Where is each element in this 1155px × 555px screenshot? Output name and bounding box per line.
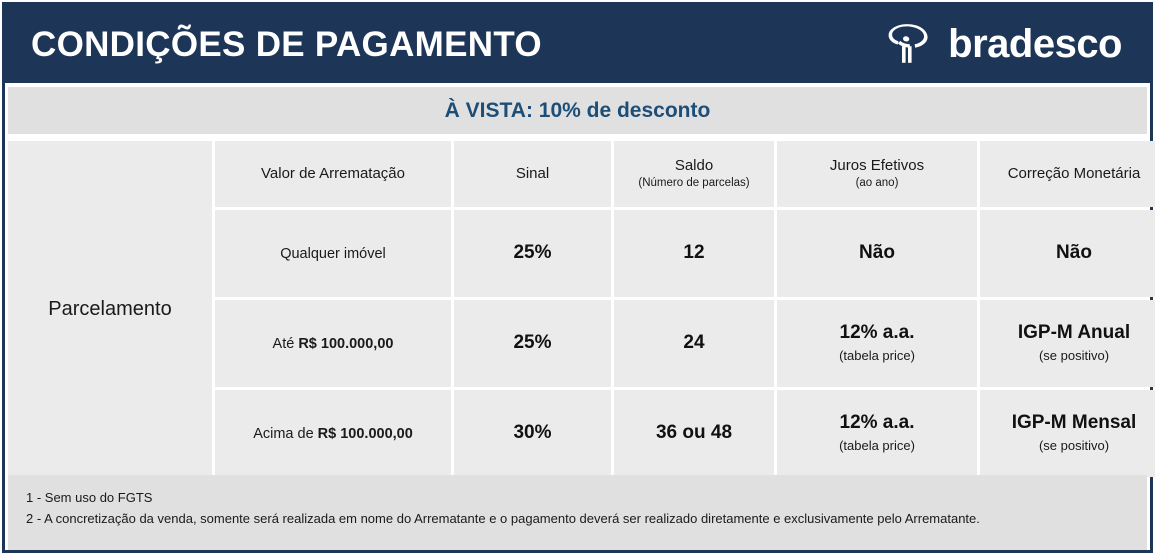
- table-header-row: Parcelamento Valor de Arrematação Sinal …: [8, 141, 1155, 207]
- discount-lead: À VISTA:: [445, 99, 533, 122]
- cell-correcao-note: (se positivo): [986, 347, 1155, 365]
- discount-rest: 10% de desconto: [533, 99, 710, 122]
- bradesco-tree-logo-icon: [885, 19, 939, 69]
- footnotes: 1 - Sem uso do FGTS 2 - A concretização …: [8, 475, 1147, 550]
- row-group-label-parcelamento: Parcelamento: [8, 141, 212, 477]
- column-header-juros-sublabel: (ao ano): [783, 176, 971, 190]
- cell-valor-amount: R$ 100.000,00: [318, 426, 413, 442]
- column-header-correcao-label: Correção Monetária: [1008, 165, 1141, 182]
- cell-valor: Acima de R$ 100.000,00: [215, 390, 451, 477]
- discount-banner: À VISTA: 10% de desconto: [8, 87, 1147, 134]
- column-header-sinal: Sinal: [454, 141, 611, 207]
- brand-name: bradesco: [948, 24, 1122, 64]
- page-title: CONDIÇÕES DE PAGAMENTO: [31, 27, 542, 62]
- cell-valor-prefix: Qualquer imóvel: [280, 246, 386, 262]
- cell-saldo: 24: [614, 300, 774, 387]
- header-bar: CONDIÇÕES DE PAGAMENTO bradesco: [5, 5, 1150, 83]
- cell-sinal: 25%: [454, 300, 611, 387]
- cell-juros-value: 12% a.a.: [840, 322, 915, 343]
- cell-saldo: 36 ou 48: [614, 390, 774, 477]
- column-header-juros: Juros Efetivos (ao ano): [777, 141, 977, 207]
- conditions-table: Parcelamento Valor de Arrematação Sinal …: [5, 138, 1150, 472]
- brand-logo: bradesco: [885, 19, 1128, 69]
- cell-correcao-value: IGP-M Mensal: [1012, 412, 1137, 433]
- column-header-saldo: Saldo (Número de parcelas): [614, 141, 774, 207]
- column-header-saldo-sublabel: (Número de parcelas): [620, 176, 768, 190]
- cell-valor: Qualquer imóvel: [215, 210, 451, 297]
- column-header-saldo-label: Saldo: [675, 157, 713, 174]
- card-frame: CONDIÇÕES DE PAGAMENTO bradesco À VISTA:…: [2, 2, 1153, 553]
- column-header-juros-label: Juros Efetivos: [830, 157, 924, 174]
- column-header-valor: Valor de Arrematação: [215, 141, 451, 207]
- cell-juros: 12% a.a. (tabela price): [777, 300, 977, 387]
- cell-juros-value: 12% a.a.: [840, 412, 915, 433]
- column-header-correcao: Correção Monetária: [980, 141, 1155, 207]
- column-header-sinal-label: Sinal: [516, 165, 549, 182]
- cell-juros: 12% a.a. (tabela price): [777, 390, 977, 477]
- footnote-1: 1 - Sem uso do FGTS: [26, 487, 1147, 508]
- cell-correcao: IGP-M Anual (se positivo): [980, 300, 1155, 387]
- cell-valor-prefix: Até: [273, 336, 299, 352]
- cell-juros-note: (tabela price): [783, 347, 971, 365]
- column-header-valor-label: Valor de Arrematação: [261, 165, 405, 182]
- cell-valor: Até R$ 100.000,00: [215, 300, 451, 387]
- cell-valor-prefix: Acima de: [253, 426, 317, 442]
- cell-sinal: 30%: [454, 390, 611, 477]
- cell-correcao: IGP-M Mensal (se positivo): [980, 390, 1155, 477]
- cell-juros-value: Não: [859, 242, 895, 263]
- cell-valor-amount: R$ 100.000,00: [298, 336, 393, 352]
- payment-conditions-card: CONDIÇÕES DE PAGAMENTO bradesco À VISTA:…: [0, 0, 1155, 555]
- cell-correcao-value: IGP-M Anual: [1018, 322, 1130, 343]
- cell-correcao: Não: [980, 210, 1155, 297]
- footnote-2: 2 - A concretização da venda, somente se…: [26, 508, 1147, 529]
- cell-juros: Não: [777, 210, 977, 297]
- cell-correcao-value: Não: [1056, 242, 1092, 263]
- cell-juros-note: (tabela price): [783, 437, 971, 455]
- discount-text: À VISTA: 10% de desconto: [445, 99, 711, 123]
- cell-saldo: 12: [614, 210, 774, 297]
- cell-sinal: 25%: [454, 210, 611, 297]
- cell-correcao-note: (se positivo): [986, 437, 1155, 455]
